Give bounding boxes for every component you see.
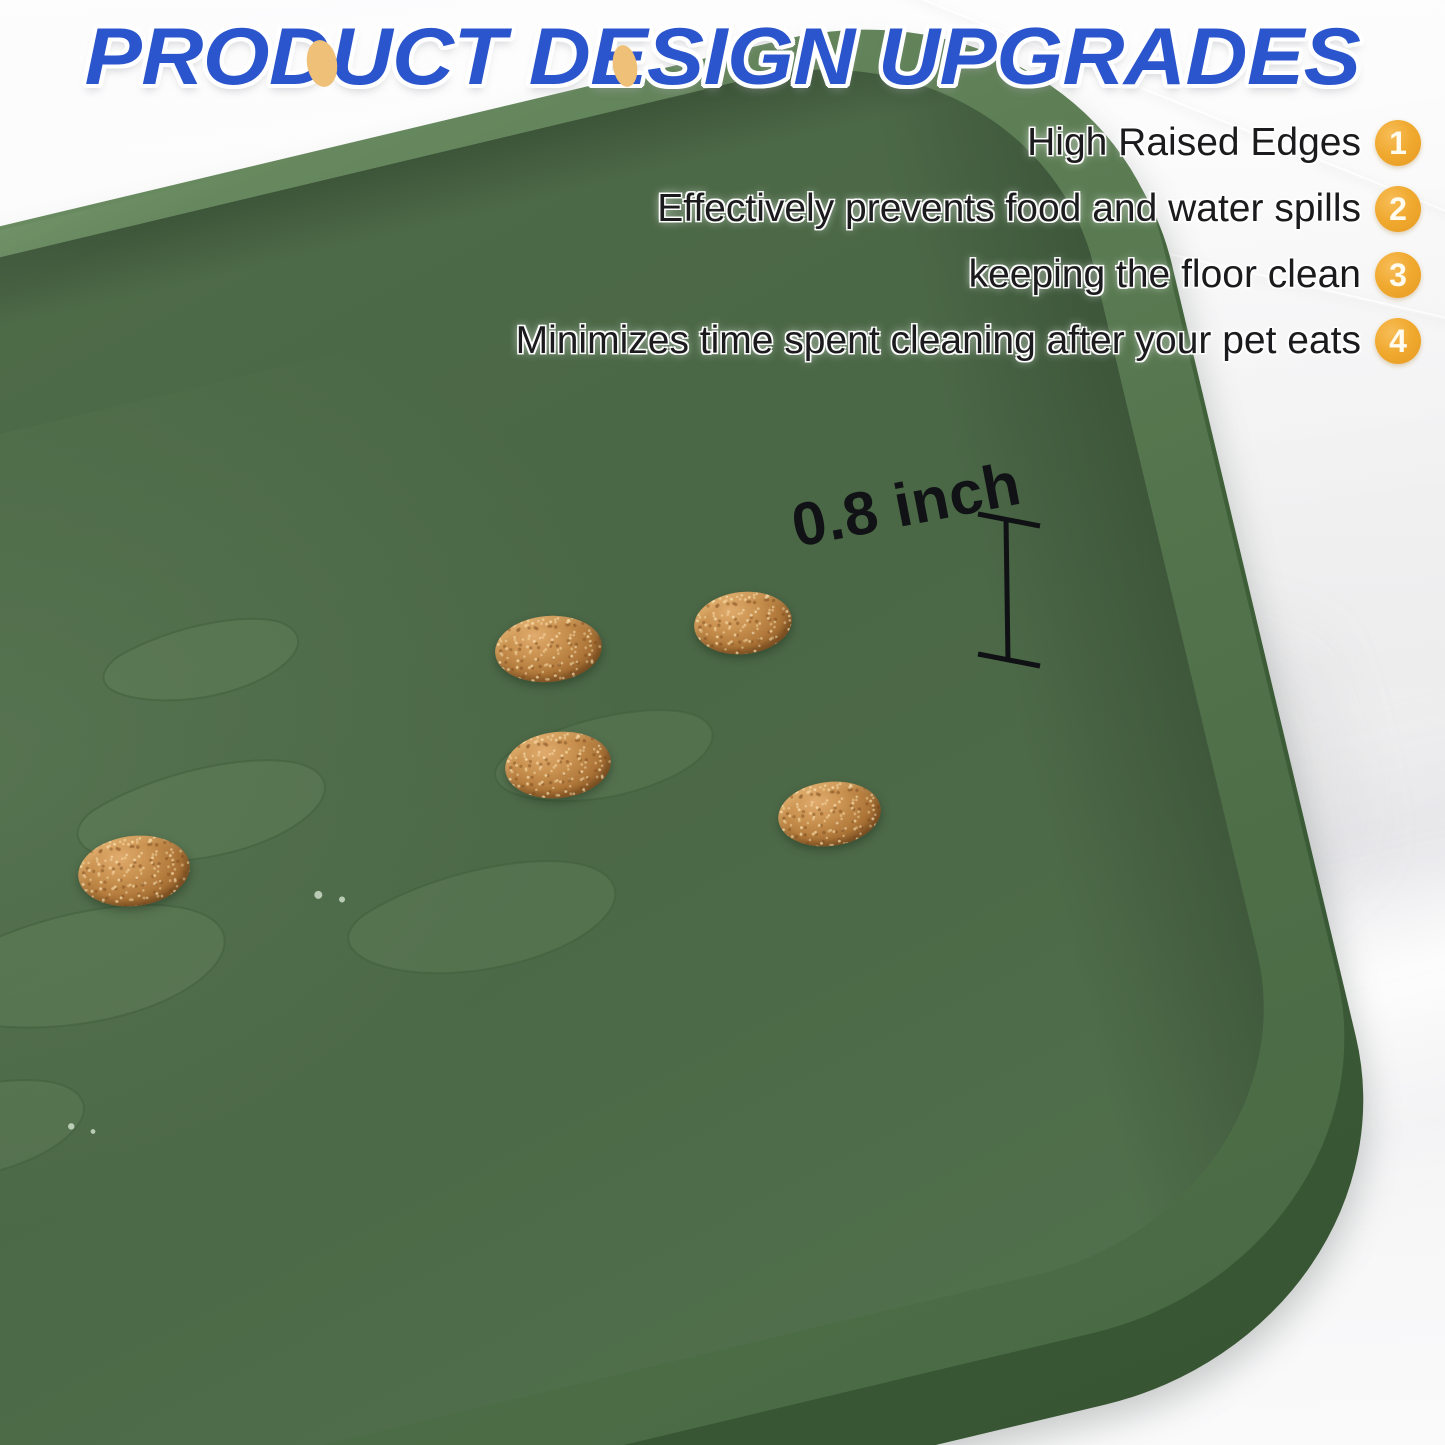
feature-list: High Raised Edges 1 Effectively prevents… [361,120,1421,384]
feature-label: Minimizes time spent cleaning after your… [516,320,1361,361]
page-title: PRODUCT DESIGN UPGRADES [0,17,1445,98]
feature-item: Minimizes time spent cleaning after your… [361,318,1421,364]
feature-number-badge: 3 [1375,252,1421,298]
feature-number-badge: 4 [1375,318,1421,364]
feature-item: High Raised Edges 1 [361,120,1421,166]
feature-item: keeping the floor clean 3 [361,252,1421,298]
feature-number-badge: 1 [1375,120,1421,166]
feature-number-badge: 2 [1375,186,1421,232]
feature-label: Effectively prevents food and water spil… [657,188,1361,229]
feature-label: keeping the floor clean [969,254,1361,295]
feature-item: Effectively prevents food and water spil… [361,186,1421,232]
feature-label: High Raised Edges [1027,122,1361,163]
dimension-i-beam [940,500,1070,680]
product-infographic: 0.8 inch PRODUCT DESIGN UPGRADES High Ra… [0,0,1445,1445]
